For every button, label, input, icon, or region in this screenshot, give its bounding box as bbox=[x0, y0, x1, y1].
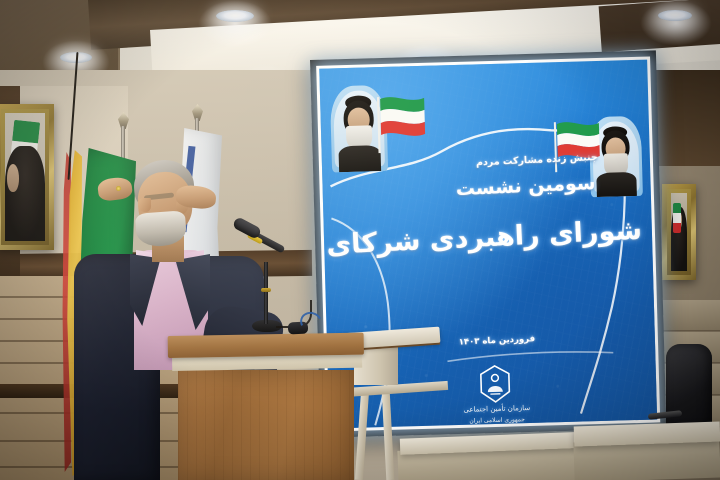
downlight-icon bbox=[216, 10, 254, 22]
downlight-glow bbox=[640, 0, 712, 46]
ring bbox=[116, 186, 121, 191]
podium-front-panel bbox=[178, 370, 354, 480]
wooden-podium bbox=[168, 336, 364, 480]
wood-grain-texture bbox=[178, 370, 354, 480]
iran-flag-waving-right bbox=[553, 115, 607, 176]
podium-top-surface bbox=[168, 333, 364, 358]
portrait-artwork bbox=[671, 193, 687, 271]
downlight-glow bbox=[198, 0, 272, 48]
portrait-artwork bbox=[5, 113, 45, 241]
stand-leg bbox=[382, 390, 395, 480]
iran-flag-waving-left bbox=[374, 90, 432, 160]
microphone-stand-pole bbox=[264, 262, 268, 324]
social-security-organization-logo bbox=[478, 363, 513, 404]
microphone-adjust-ring[interactable] bbox=[261, 288, 271, 292]
portrait-figure bbox=[5, 146, 45, 241]
iran-flag-icon bbox=[673, 203, 681, 233]
framed-leader-portrait-right bbox=[662, 184, 696, 280]
portrait-face bbox=[7, 164, 19, 192]
downlight-icon bbox=[658, 10, 692, 21]
nose bbox=[138, 198, 151, 212]
conference-hall-photo: جنبش زنده مشارکت مردم سومین نشست شورای ر… bbox=[0, 0, 720, 480]
framed-leader-portrait-left bbox=[0, 104, 54, 250]
